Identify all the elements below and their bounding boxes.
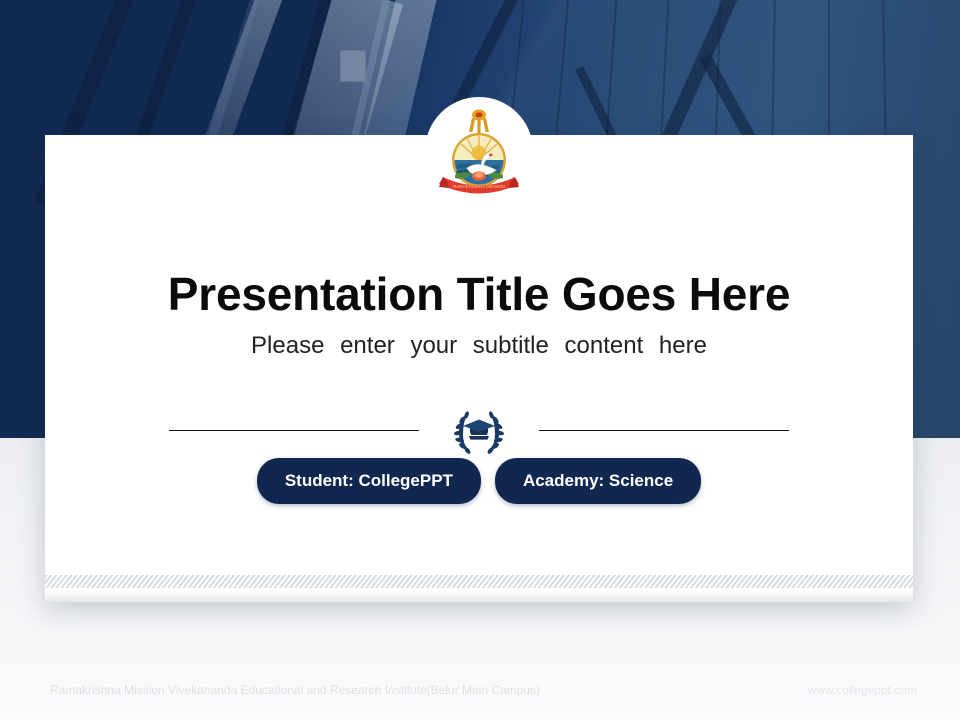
svg-text:RAMAKRISHNA MISSION: RAMAKRISHNA MISSION [453, 184, 505, 189]
status-badge-student[interactable]: Student: CollegePPT [257, 458, 481, 504]
badge-row: Student: CollegePPT Academy: Science [45, 458, 913, 504]
divider-line-left [169, 430, 419, 431]
hatched-strip [45, 575, 913, 588]
graduation-laurel-icon [451, 405, 507, 455]
card-base-shadow [45, 590, 913, 602]
footer-institute-name: Ramakrishna Mission Vivekananda Educatio… [50, 683, 540, 697]
wall-fixture [340, 50, 366, 82]
footer-website[interactable]: www.collegeppt.com [808, 683, 917, 697]
presentation-slide: RAMAKRISHNA MISSION Presentation Title G… [0, 0, 960, 720]
status-badge-academy[interactable]: Academy: Science [495, 458, 701, 504]
divider-line-right [539, 430, 789, 431]
footer: Ramakrishna Mission Vivekananda Educatio… [0, 683, 960, 707]
page-subtitle: Please enter your subtitle content here [45, 332, 913, 360]
divider [45, 405, 913, 455]
title-block: Presentation Title Goes Here Please ente… [45, 270, 913, 360]
content-card: RAMAKRISHNA MISSION Presentation Title G… [45, 135, 913, 600]
page-title: Presentation Title Goes Here [45, 270, 913, 318]
institute-crest-icon: RAMAKRISHNA MISSION [431, 107, 527, 203]
